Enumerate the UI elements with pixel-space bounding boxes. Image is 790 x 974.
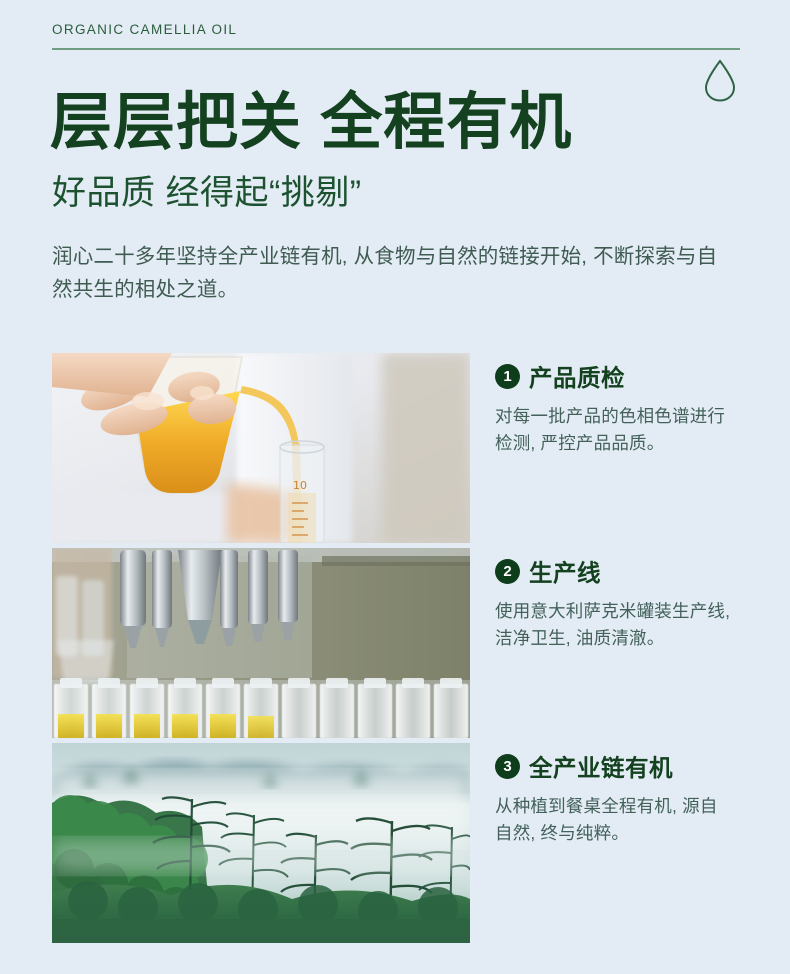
oil-droplet-icon [702,58,738,102]
photo-organic-forest [52,743,470,943]
promo-page: ORGANIC CAMELLIA OIL 层层把关 全程有机 好品质 经得起“挑… [0,0,790,974]
feature-description: 对每一批产品的色相色谱进行检测, 严控产品品质。 [495,403,727,457]
feature-title: 产品质检 [529,359,625,393]
photo-product-inspection: 10 [52,353,470,543]
feature-number-badge: 1 [495,364,520,389]
feature-item: 2 生产线 使用意大利萨克米罐装生产线, 洁净卫生, 油质清澈。 [495,554,745,652]
feature-number-badge: 2 [495,559,520,584]
page-header: ORGANIC CAMELLIA OIL [52,22,740,52]
page-subtitle: 好品质 经得起“挑剔” [52,172,362,214]
feature-heading: 1 产品质检 [495,359,745,393]
page-title: 层层把关 全程有机 [50,88,572,158]
feature-number-badge: 3 [495,754,520,779]
header-divider [52,48,740,50]
feature-heading: 2 生产线 [495,554,745,588]
svg-text:10: 10 [293,479,307,492]
photo-production-line [52,548,470,738]
eyebrow-label: ORGANIC CAMELLIA OIL [52,22,740,38]
feature-item: 1 产品质检 对每一批产品的色相色谱进行检测, 严控产品品质。 [495,359,745,457]
feature-description: 使用意大利萨克米罐装生产线, 洁净卫生, 油质清澈。 [495,598,733,652]
feature-description: 从种植到餐桌全程有机, 源自自然, 终与纯粹。 [495,793,727,847]
feature-title: 全产业链有机 [529,749,673,783]
feature-title: 生产线 [529,554,601,588]
intro-paragraph: 润心二十多年坚持全产业链有机, 从食物与自然的链接开始, 不断探索与自然共生的相… [52,240,724,306]
feature-heading: 3 全产业链有机 [495,749,745,783]
feature-item: 3 全产业链有机 从种植到餐桌全程有机, 源自自然, 终与纯粹。 [495,749,745,847]
